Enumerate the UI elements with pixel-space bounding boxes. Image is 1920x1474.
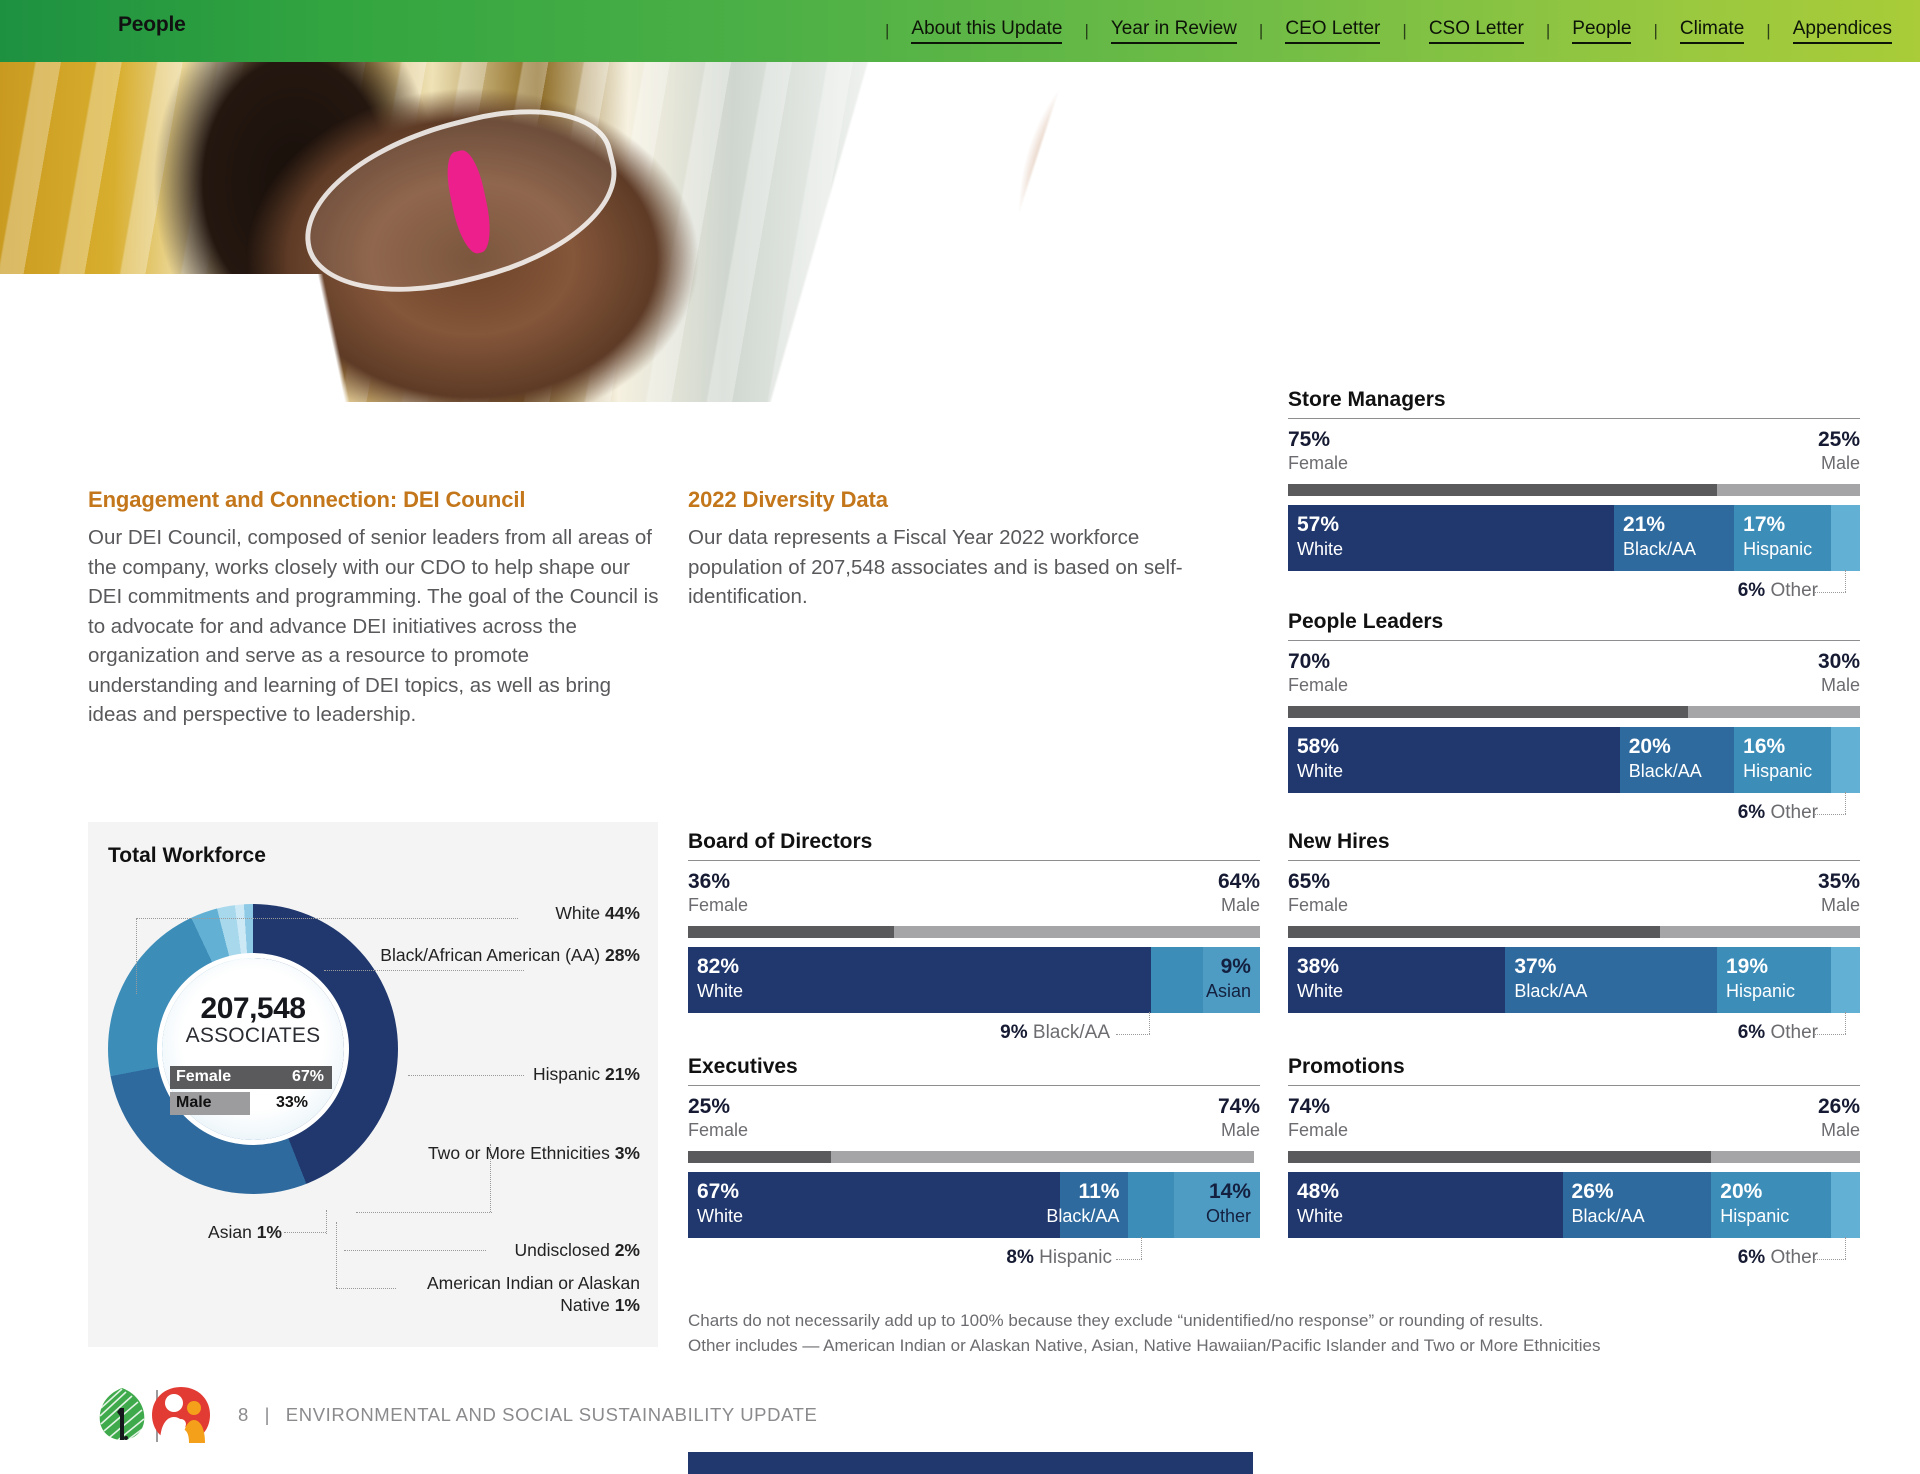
gender-summary: 36% Female 64% Male <box>688 870 1260 926</box>
donut-legend-asian: Asian 1% <box>136 1221 282 1243</box>
nav-separator: | <box>1631 21 1679 41</box>
dei-council-section: Engagement and Connection: DEI Council O… <box>88 487 663 730</box>
tree-logo-icon <box>96 1386 148 1444</box>
segment-callout: 6% Other <box>1288 1018 1860 1052</box>
footnote-line-2: Other includes — American Indian or Alas… <box>688 1333 1688 1358</box>
segment-label: White <box>1297 761 1343 782</box>
male-label: Male <box>1821 675 1860 696</box>
segment-percent: 17% <box>1743 513 1785 537</box>
segment-label: Black/AA <box>1514 981 1587 1002</box>
nav-separator: | <box>1524 21 1572 41</box>
segment-percent: 67% <box>697 1180 739 1204</box>
segment-label: White <box>1297 981 1343 1002</box>
female-percent: 25% <box>688 1095 730 1119</box>
gender-bar <box>1288 706 1860 718</box>
gender-bar <box>688 1151 1260 1163</box>
total-workforce-title: Total Workforce <box>108 844 266 868</box>
footnote-line-1: Charts do not necessarily add up to 100%… <box>688 1308 1688 1333</box>
ethnicity-bar: 48% White 26% Black/AA 20% Hispanic <box>1288 1172 1860 1238</box>
segment-percent: 11% <box>1079 1180 1120 1204</box>
male-percent: 25% <box>1818 428 1860 452</box>
segment-percent: 9% <box>1221 955 1251 979</box>
donut-center: 207,548 ASSOCIATES Female 67% Male 33% <box>162 958 344 1140</box>
segment-callout: 6% Other <box>1288 1243 1860 1277</box>
page-footer: 8 | ENVIRONMENTAL AND SOCIAL SUSTAINABIL… <box>0 1376 1920 1474</box>
footer-blue-bar <box>688 1452 1253 1474</box>
nav-separator: | <box>1744 21 1792 41</box>
chart-executives: Executives 25% Female 74% Male 67% White… <box>688 1055 1260 1277</box>
female-label: Female <box>1288 1120 1348 1141</box>
ethnicity-bar: 82% White 9% Asian <box>688 947 1260 1013</box>
chart-rule <box>1288 418 1860 419</box>
segment-label: Hispanic <box>1720 1206 1789 1227</box>
diversity-data-heading: 2022 Diversity Data <box>688 487 1208 513</box>
donut-legend-undisclosed: Undisclosed 2% <box>388 1239 640 1261</box>
callout-text: 6% Other <box>1738 802 1818 824</box>
segment-callout: 8% Hispanic <box>688 1243 1260 1277</box>
chart-rule <box>1288 860 1860 861</box>
segment-percent: 26% <box>1572 1180 1614 1204</box>
family-logo-icon <box>150 1386 212 1444</box>
gender-bar <box>1288 1151 1860 1163</box>
chart-promotions: Promotions 74% Female 26% Male 48% White… <box>1288 1055 1860 1277</box>
chart-rule <box>1288 1085 1860 1086</box>
segment-label: Asian <box>1206 981 1251 1002</box>
female-label: Female <box>1288 895 1348 916</box>
chart-title: Promotions <box>1288 1055 1860 1079</box>
male-percent: 26% <box>1818 1095 1860 1119</box>
gender-summary: 74% Female 26% Male <box>1288 1095 1860 1151</box>
ethnicity-bar: 67% White 11% Black/AA 14% Other <box>688 1172 1260 1238</box>
female-percent: 75% <box>1288 428 1330 452</box>
chart-title: New Hires <box>1288 830 1860 854</box>
female-label: Female <box>1288 453 1348 474</box>
segment-label: Black/AA <box>1629 761 1702 782</box>
nav-link-year-in-review[interactable]: Year in Review <box>1111 18 1237 44</box>
segment-label: Other <box>1206 1206 1251 1227</box>
ethnicity-bar: 38% White 37% Black/AA 19% Hispanic <box>1288 947 1860 1013</box>
total-workforce-donut-chart: 207,548 ASSOCIATES Female 67% Male 33% <box>108 904 398 1194</box>
nav-link-people[interactable]: People <box>1572 18 1631 44</box>
segment-percent: 48% <box>1297 1180 1339 1204</box>
segment-label: Hispanic <box>1743 539 1812 560</box>
gender-summary: 70% Female 30% Male <box>1288 650 1860 706</box>
chart-board-of-directors: Board of Directors 36% Female 64% Male 8… <box>688 830 1260 1052</box>
segment-label: White <box>697 1206 743 1227</box>
female-label: Female <box>1288 675 1348 696</box>
chart-store-managers: Store Managers 75% Female 25% Male 57% W… <box>1288 388 1860 610</box>
report-page: People | About this Update | Year in Rev… <box>0 0 1920 1474</box>
chart-rule <box>688 860 1260 861</box>
female-percent: 74% <box>1288 1095 1330 1119</box>
nav-link-climate[interactable]: Climate <box>1680 18 1744 44</box>
nav-link-about-this-update[interactable]: About this Update <box>911 18 1062 44</box>
donut-male-value: 33% <box>276 1094 308 1112</box>
current-section-label: People <box>118 13 186 37</box>
male-label: Male <box>1821 453 1860 474</box>
nav-separator: | <box>1237 21 1285 41</box>
female-percent: 70% <box>1288 650 1330 674</box>
chart-new-hires: New Hires 65% Female 35% Male 38% White … <box>1288 830 1860 1052</box>
chart-footnotes: Charts do not necessarily add up to 100%… <box>688 1308 1688 1358</box>
nav-link-cso-letter[interactable]: CSO Letter <box>1429 18 1524 44</box>
gender-bar <box>1288 926 1860 938</box>
total-workforce-panel: Total Workforce 207,548 ASSOCIATES Femal… <box>88 822 658 1347</box>
nav-separator: | <box>1062 21 1110 41</box>
segment-percent: 20% <box>1629 735 1671 759</box>
male-label: Male <box>1821 895 1860 916</box>
male-percent: 35% <box>1818 870 1860 894</box>
chart-title: Board of Directors <box>688 830 1260 854</box>
male-label: Male <box>1221 1120 1260 1141</box>
donut-female-row: Female 67% <box>170 1066 332 1089</box>
segment-percent: 14% <box>1209 1180 1251 1204</box>
chart-rule <box>1288 640 1860 641</box>
chart-title: Executives <box>688 1055 1260 1079</box>
segment-label: White <box>697 981 743 1002</box>
callout-text: 6% Other <box>1738 1022 1818 1044</box>
segment-percent: 82% <box>697 955 739 979</box>
segment-callout: 9% Black/AA <box>688 1018 1260 1052</box>
segment-label: Hispanic <box>1743 761 1812 782</box>
callout-text: 6% Other <box>1738 580 1818 602</box>
segment-label: Black/AA <box>1046 1206 1119 1227</box>
donut-legend-white: White 44% <box>388 902 640 924</box>
donut-female-value: 67% <box>292 1068 324 1086</box>
chart-title: Store Managers <box>1288 388 1860 412</box>
segment-label: White <box>1297 539 1343 560</box>
female-percent: 65% <box>1288 870 1330 894</box>
associates-count: 207,548 <box>162 992 344 1026</box>
callout-text: 9% Black/AA <box>1000 1022 1110 1044</box>
segment-percent: 38% <box>1297 955 1339 979</box>
top-navigation-bar: People | About this Update | Year in Rev… <box>0 0 1920 62</box>
female-label: Female <box>688 1120 748 1141</box>
male-percent: 30% <box>1818 650 1860 674</box>
nav-links: | About this Update | Year in Review | C… <box>863 0 1892 62</box>
gender-bar <box>688 926 1260 938</box>
segment-percent: 21% <box>1623 513 1665 537</box>
gender-summary: 75% Female 25% Male <box>1288 428 1860 484</box>
segment-label: Hispanic <box>1726 981 1795 1002</box>
diversity-data-body: Our data represents a Fiscal Year 2022 w… <box>688 523 1208 612</box>
segment-percent: 58% <box>1297 735 1339 759</box>
male-label: Male <box>1221 895 1260 916</box>
segment-callout: 6% Other <box>1288 798 1860 832</box>
segment-percent: 57% <box>1297 513 1339 537</box>
chart-people-leaders: People Leaders 70% Female 30% Male 58% W… <box>1288 610 1860 832</box>
donut-male-label: Male <box>176 1094 212 1112</box>
dei-council-heading: Engagement and Connection: DEI Council <box>88 487 663 513</box>
hero-photo <box>0 62 1300 402</box>
gender-summary: 25% Female 74% Male <box>688 1095 1260 1151</box>
callout-text: 6% Other <box>1738 1247 1818 1269</box>
associates-label: ASSOCIATES <box>162 1024 344 1048</box>
footer-caption: 8 | ENVIRONMENTAL AND SOCIAL SUSTAINABIL… <box>238 1404 817 1426</box>
donut-male-row: Male 33% <box>170 1092 332 1115</box>
segment-label: Black/AA <box>1623 539 1696 560</box>
dei-council-body: Our DEI Council, composed of senior lead… <box>88 523 663 730</box>
footer-page-number: 8 <box>238 1404 249 1425</box>
gender-summary: 65% Female 35% Male <box>1288 870 1860 926</box>
footer-title: ENVIRONMENTAL AND SOCIAL SUSTAINABILITY … <box>286 1404 818 1425</box>
female-label: Female <box>688 895 748 916</box>
callout-text: 8% Hispanic <box>1006 1247 1112 1269</box>
donut-female-label: Female <box>176 1068 231 1086</box>
segment-percent: 16% <box>1743 735 1785 759</box>
male-percent: 64% <box>1218 870 1260 894</box>
segment-label: White <box>1297 1206 1343 1227</box>
segment-percent: 19% <box>1726 955 1768 979</box>
ethnicity-bar: 57% White 21% Black/AA 17% Hispanic <box>1288 505 1860 571</box>
nav-separator: | <box>863 21 911 41</box>
male-percent: 74% <box>1218 1095 1260 1119</box>
chart-title: People Leaders <box>1288 610 1860 634</box>
chart-rule <box>688 1085 1260 1086</box>
diversity-data-section: 2022 Diversity Data Our data represents … <box>688 487 1208 612</box>
female-percent: 36% <box>688 870 730 894</box>
segment-label: Black/AA <box>1572 1206 1645 1227</box>
donut-legend-american-indian: American Indian or Alaskan Native 1% <box>388 1272 640 1316</box>
donut-legend-hispanic: Hispanic 21% <box>388 1063 640 1085</box>
segment-percent: 37% <box>1514 955 1556 979</box>
gender-bar <box>1288 484 1860 496</box>
ethnicity-bar: 58% White 20% Black/AA 16% Hispanic <box>1288 727 1860 793</box>
male-label: Male <box>1821 1120 1860 1141</box>
nav-link-appendices[interactable]: Appendices <box>1793 18 1892 44</box>
nav-separator: | <box>1380 21 1428 41</box>
segment-callout: 6% Other <box>1288 576 1860 610</box>
footer-divider: | <box>255 1404 280 1425</box>
donut-legend-black-aa: Black/African American (AA) 28% <box>368 944 640 966</box>
segment-percent: 20% <box>1720 1180 1762 1204</box>
nav-link-ceo-letter[interactable]: CEO Letter <box>1285 18 1380 44</box>
donut-legend-two-or-more: Two or More Ethnicities 3% <box>388 1142 640 1164</box>
